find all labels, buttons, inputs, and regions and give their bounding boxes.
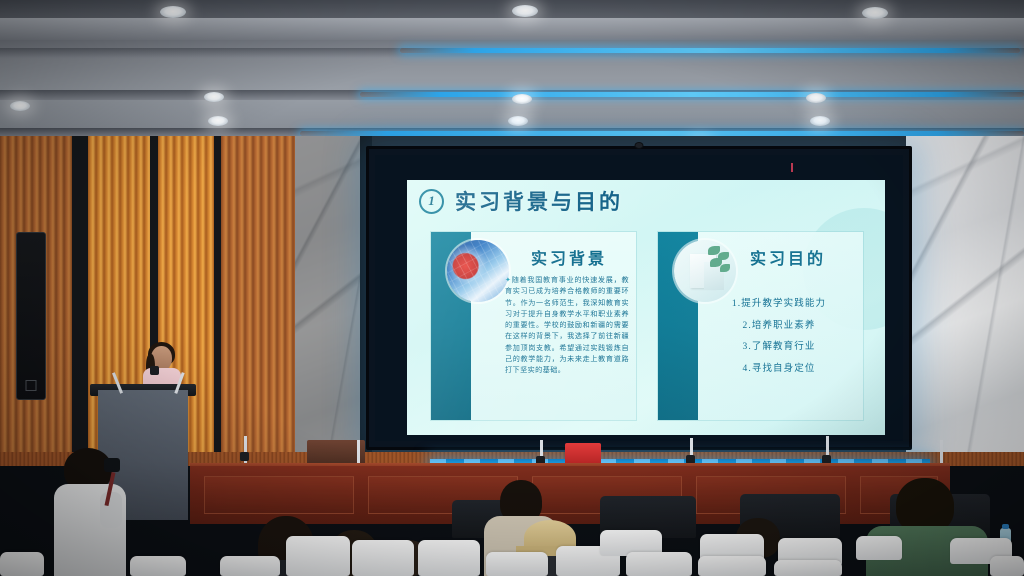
- globe-technology-icon: [447, 240, 509, 302]
- photographer: [46, 448, 130, 576]
- goal-item: 4.寻找自身定位: [743, 360, 816, 374]
- goal-list: 1.提升教学实践能力 2.培养职业素养 3.了解教育行业 4.寻找自身定位: [702, 295, 856, 374]
- chair: [130, 556, 186, 576]
- card-paragraph: ✦随着我国教育事业的快速发展，教育实习已成为培养合格教师的重要环节。作为一名师范…: [505, 275, 629, 377]
- ceiling-downlight: [806, 93, 826, 103]
- goal-item: 3.了解教育行业: [743, 338, 816, 352]
- podium-microphone-head: [150, 366, 159, 375]
- goal-item: 2.培养职业素养: [743, 317, 816, 331]
- ceiling-downlight: [810, 116, 830, 126]
- chair: [286, 536, 350, 576]
- ceiling-downlight: [160, 6, 186, 18]
- ceiling-downlight: [512, 94, 532, 104]
- card-internship-background: 实习背景 ✦随着我国教育事业的快速发展，教育实习已成为培养合格教师的重要环节。作…: [431, 232, 636, 420]
- chair: [418, 540, 480, 576]
- chair: [626, 552, 692, 576]
- card-body: 实习背景 ✦随着我国教育事业的快速发展，教育实习已成为培养合格教师的重要环节。作…: [471, 232, 636, 420]
- screen-bezel: 1 实习背景与目的 实习背景 ✦随着我国教育事业的快速发展，教育实习已成为培养合…: [375, 155, 903, 441]
- goal-item: 1.提升教学实践能力: [732, 295, 826, 309]
- wood-slat-panel: [221, 136, 295, 466]
- slide-number-badge: 1: [419, 189, 444, 214]
- photographer-arm: [100, 492, 122, 528]
- slide-title: 实习背景与目的: [455, 186, 623, 216]
- red-power-box: [565, 443, 601, 465]
- wall-speaker: [16, 232, 46, 400]
- notebook-plant-icon: [674, 240, 736, 302]
- chair: [0, 552, 44, 576]
- ceiling-downlight: [208, 116, 228, 126]
- chair: [698, 556, 766, 576]
- bottle-cap: [1002, 524, 1009, 529]
- ceiling-downlight: [10, 101, 30, 111]
- camera-icon: [104, 458, 120, 472]
- ceiling: [0, 0, 1024, 150]
- card-body: 实习目的 1.提升教学实践能力 2.培养职业素养 3.了解教育行业 4.寻找自身…: [698, 232, 863, 420]
- slide-card-row: 实习背景 ✦随着我国教育事业的快速发展，教育实习已成为培养合格教师的重要环节。作…: [431, 232, 863, 420]
- desk-panel: [204, 476, 354, 514]
- chair: [486, 552, 548, 576]
- chair: [774, 560, 842, 576]
- marble-wall-panel: [906, 136, 1024, 466]
- indicator-led: [791, 163, 793, 172]
- ceiling-band-1: [0, 18, 1024, 40]
- ceiling-camera-icon: [635, 142, 644, 149]
- slide-header: 1 实习背景与目的: [419, 186, 623, 216]
- card-internship-goals: 实习目的 1.提升教学实践能力 2.培养职业素养 3.了解教育行业 4.寻找自身…: [658, 232, 863, 420]
- ceiling-downlight: [512, 5, 538, 17]
- cove-light-strip: [360, 92, 1024, 97]
- projection-screen: 1 实习背景与目的 实习背景 ✦随着我国教育事业的快速发展，教育实习已成为培养合…: [366, 146, 912, 450]
- ceiling-downlight: [508, 116, 528, 126]
- ceiling-downlight: [862, 7, 888, 19]
- wall-recess: [214, 136, 221, 466]
- chair: [220, 556, 280, 576]
- chair: [352, 540, 414, 576]
- chair: [990, 556, 1024, 576]
- wall-recess: [72, 136, 88, 466]
- cove-light-strip: [400, 48, 1020, 53]
- chair: [856, 536, 902, 560]
- presentation-slide: 1 实习背景与目的 实习背景 ✦随着我国教育事业的快速发展，教育实习已成为培养合…: [407, 180, 885, 435]
- microphone-stand: [244, 436, 247, 466]
- ceiling-downlight: [204, 92, 224, 102]
- microphone-head: [240, 452, 249, 461]
- auditorium-scene: 1 实习背景与目的 实习背景 ✦随着我国教育事业的快速发展，教育实习已成为培养合…: [0, 0, 1024, 576]
